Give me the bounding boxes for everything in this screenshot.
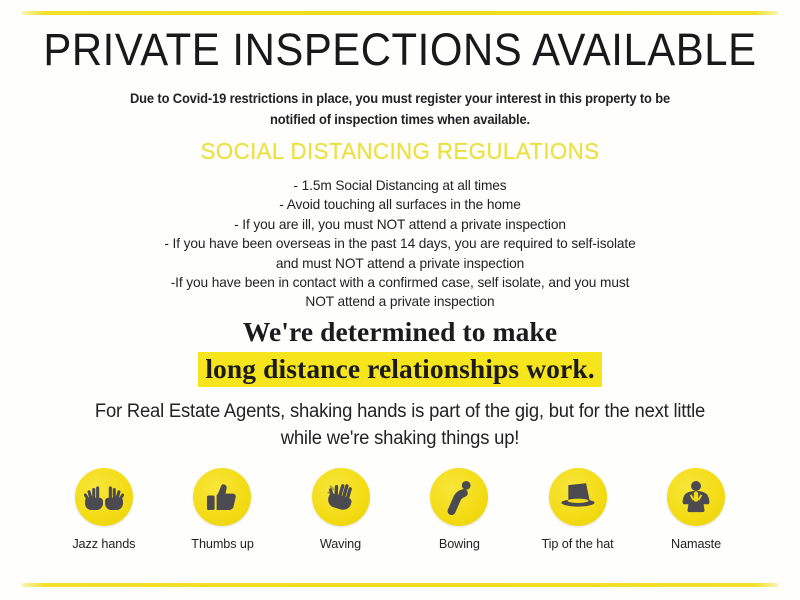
rule-line: - 1.5m Social Distancing at all times [80, 176, 720, 195]
gesture-label: Jazz hands [72, 536, 135, 551]
slogan-line-2: long distance relationships work. [0, 351, 800, 387]
bottom-divider-rule [22, 583, 778, 587]
gesture-label: Thumbs up [191, 536, 253, 551]
gesture-item-thumbs-up: Thumbs up [166, 468, 278, 551]
section-heading: SOCIAL DISTANCING REGULATIONS [20, 138, 780, 165]
gesture-item-tip-of-the-hat: Tip of the hat [522, 468, 634, 551]
rule-line: - If you are ill, you must NOT attend a … [80, 215, 720, 234]
intro-paragraph: Due to Covid-19 restrictions in place, y… [115, 88, 685, 130]
gesture-item-jazz-hands: Jazz hands [48, 468, 160, 551]
poster-canvas: PRIVATE INSPECTIONS AVAILABLE Due to Cov… [0, 0, 800, 600]
namaste-badge [667, 468, 725, 526]
rule-line: - If you have been overseas in the past … [80, 234, 720, 253]
thumbs-up-icon [205, 481, 239, 513]
rule-line: -If you have been in contact with a conf… [80, 273, 720, 292]
gesture-item-namaste: Namaste [640, 468, 752, 551]
thumbs-up-badge [193, 468, 251, 526]
slogan-block: We're determined to make long distance r… [0, 314, 800, 387]
rule-line: - Avoid touching all surfaces in the hom… [80, 195, 720, 214]
top-hat-icon [558, 481, 598, 513]
rule-line: NOT attend a private inspection [80, 292, 720, 311]
top-divider-rule [22, 11, 778, 15]
rule-line: and must NOT attend a private inspection [80, 254, 720, 273]
gesture-icon-row: Jazz hands Thumbs up [48, 468, 752, 551]
jazz-hands-badge [75, 468, 133, 526]
social-distancing-rules-list: - 1.5m Social Distancing at all times - … [80, 176, 720, 312]
gesture-item-bowing: Bowing [403, 468, 515, 551]
closing-paragraph: For Real Estate Agents, shaking hands is… [80, 398, 720, 452]
slogan-highlight: long distance relationships work. [198, 352, 601, 387]
gesture-label: Waving [320, 536, 361, 551]
waving-hand-badge [312, 468, 370, 526]
top-hat-badge [549, 468, 607, 526]
page-title: PRIVATE INSPECTIONS AVAILABLE [28, 26, 772, 74]
gesture-item-waving: Waving [285, 468, 397, 551]
bowing-person-icon [443, 479, 475, 515]
jazz-hands-icon [84, 480, 124, 514]
bowing-person-badge [430, 468, 488, 526]
slogan-line-1: We're determined to make [0, 314, 800, 349]
gesture-label: Bowing [439, 536, 480, 551]
gesture-label: Tip of the hat [542, 536, 614, 551]
gesture-label: Namaste [671, 536, 721, 551]
waving-hand-icon [324, 480, 358, 514]
namaste-icon [678, 480, 714, 514]
